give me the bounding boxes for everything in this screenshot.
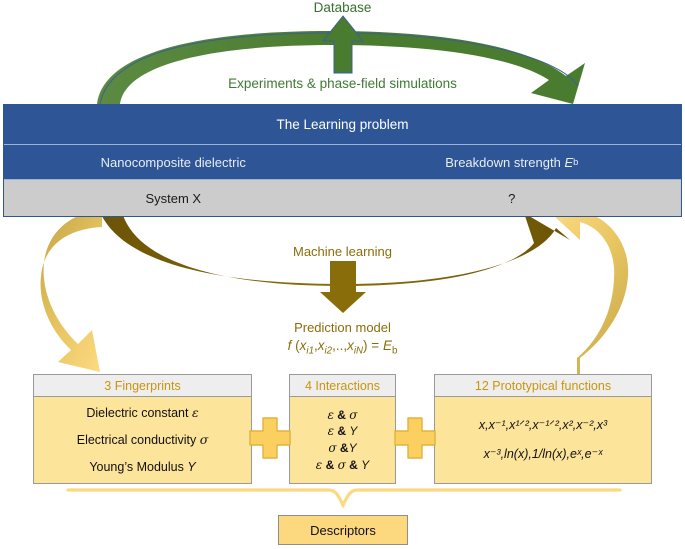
plus-layer bbox=[0, 0, 685, 549]
plus-icon-1 bbox=[250, 418, 290, 458]
descriptors-box: Descriptors bbox=[278, 515, 408, 545]
descriptors-label: Descriptors bbox=[310, 523, 376, 538]
diagram-canvas: Database Experiments & phase-field simul… bbox=[0, 0, 685, 549]
plus-icon-2 bbox=[395, 418, 435, 458]
